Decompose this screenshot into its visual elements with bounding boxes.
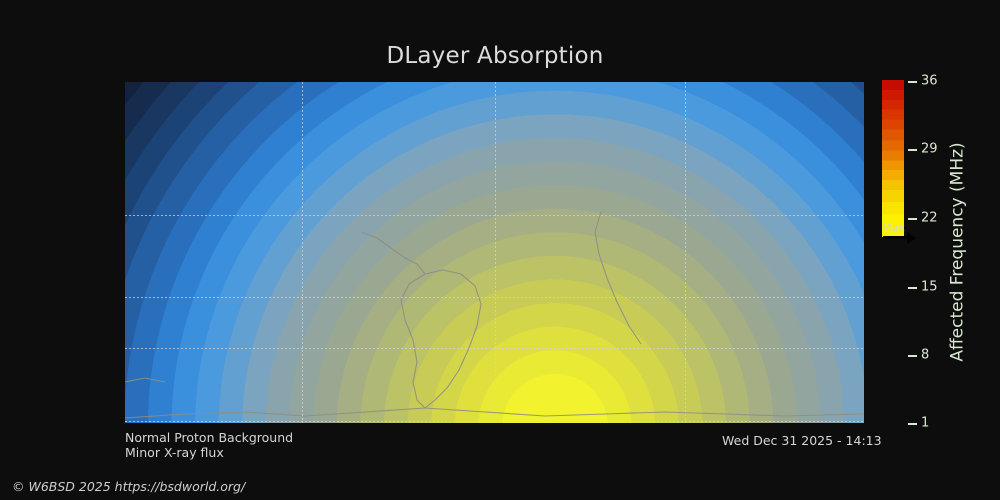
xray-status-text: Minor X-ray flux bbox=[125, 445, 224, 460]
colorbar-label-36: 36 bbox=[921, 74, 938, 89]
colorbar-label-29: 29 bbox=[921, 142, 938, 157]
colorbar-axis-label-text: Affected Frequency (MHz) bbox=[948, 142, 968, 361]
colorbar-axis-label: Affected Frequency (MHz) bbox=[948, 78, 968, 425]
colorbar-tick-1 bbox=[908, 423, 917, 425]
colorbar-tick-22 bbox=[908, 218, 917, 220]
colorbar-tick-36 bbox=[908, 81, 917, 83]
page-title: DLayer Absorption bbox=[0, 43, 990, 69]
max-marker-label: Max bbox=[882, 221, 905, 234]
max-marker: Max bbox=[880, 224, 926, 246]
colorbar-tick-8 bbox=[908, 355, 917, 357]
gridline-lon-0 bbox=[495, 82, 496, 423]
colorbar-label-15: 15 bbox=[921, 280, 938, 295]
colorbar-tick-29 bbox=[908, 149, 917, 151]
timestamp-text: Wed Dec 31 2025 - 14:13 bbox=[722, 433, 882, 448]
colorbar-label-1: 1 bbox=[921, 416, 929, 431]
dlayer-absorption-plot: DLayer Absorption bbox=[0, 0, 1000, 500]
colorbar-tick-15 bbox=[908, 287, 917, 289]
gridline-lon-90e bbox=[685, 82, 686, 423]
proton-status-text: Normal Proton Background bbox=[125, 430, 293, 445]
right-arrow-icon bbox=[883, 236, 909, 239]
right-arrow-head-icon bbox=[907, 232, 916, 244]
credit-footer: © W6BSD 2025 https://bsdworld.org/ bbox=[12, 479, 245, 494]
colorbar-label-8: 8 bbox=[921, 348, 929, 363]
colorbar-warm-segment bbox=[882, 80, 904, 190]
gridline-lon-90w bbox=[302, 82, 303, 423]
world-map[interactable] bbox=[125, 82, 864, 423]
